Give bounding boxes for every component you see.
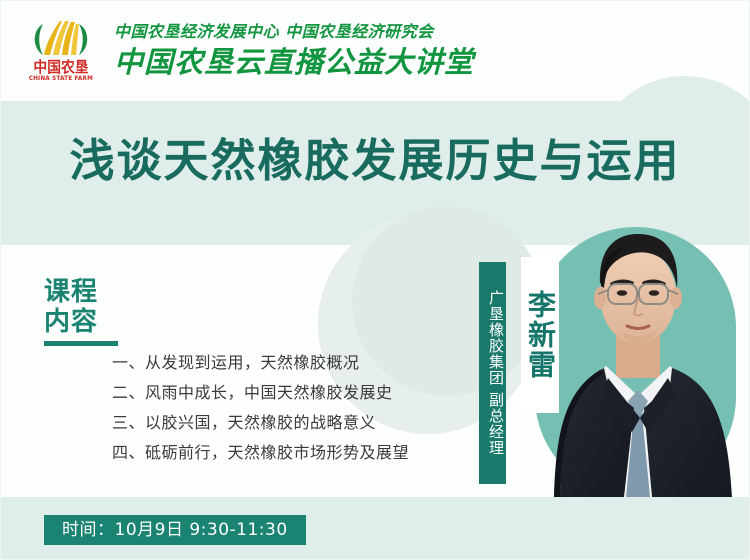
course-content-heading-line1: 课程 <box>44 277 118 307</box>
course-content-heading: 课程 内容 <box>44 277 118 346</box>
webinar-poster: 广垦橡胶集团 副总经理 李新雷 中国农垦 CHINA STATE FARM 中国… <box>0 0 750 560</box>
speaker-role: 广垦橡胶集团 副总经理 <box>479 262 506 484</box>
brand-logo: 中国农垦 CHINA STATE FARM <box>22 18 100 83</box>
logo-chinese-name: 中国农垦 <box>33 59 88 75</box>
list-item: 三、以胶兴国，天然橡胶的战略意义 <box>112 408 409 438</box>
china-state-farm-emblem-icon <box>30 18 92 58</box>
course-content-list: 一、从发现到运用，天然橡胶概况 二、风雨中成长，中国天然橡胶发展史 三、以胶兴国… <box>112 348 409 468</box>
program-name: 中国农垦云直播公益大讲堂 <box>114 43 474 81</box>
list-item: 一、从发现到运用，天然橡胶概况 <box>112 348 409 378</box>
speaker-name: 李新雷 <box>521 257 559 413</box>
speaker-photo <box>548 218 748 497</box>
heading-underline <box>44 341 118 346</box>
list-item: 二、风雨中成长，中国天然橡胶发展史 <box>112 378 409 408</box>
schedule-badge: 时间：10月9日 9:30-11:30 <box>44 515 306 545</box>
poster-title: 浅谈天然橡胶发展历史与运用 <box>0 131 750 191</box>
header: 中国农垦 CHINA STATE FARM 中国农垦经济发展中心 中国农垦经济研… <box>0 0 750 101</box>
organization-names: 中国农垦经济发展中心 中国农垦经济研究会 <box>114 21 474 43</box>
course-content-heading-line2: 内容 <box>44 307 118 337</box>
list-item: 四、砥砺前行，天然橡胶市场形势及展望 <box>112 438 409 468</box>
logo-english-name: CHINA STATE FARM <box>29 75 93 83</box>
header-text-block: 中国农垦经济发展中心 中国农垦经济研究会 中国农垦云直播公益大讲堂 <box>114 21 474 81</box>
